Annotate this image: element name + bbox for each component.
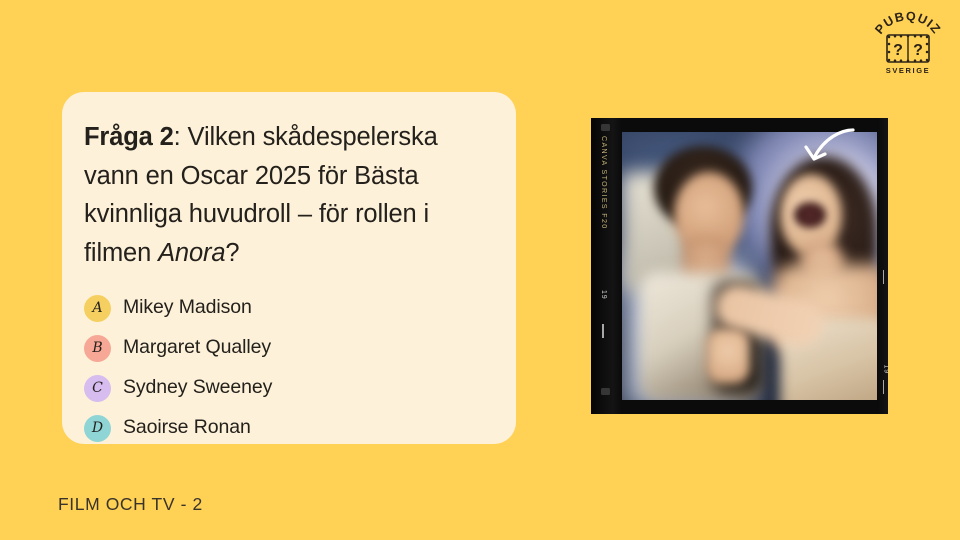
- option-row-d[interactable]: D Saoirse Ronan: [84, 408, 486, 448]
- option-badge-c: C: [84, 375, 111, 402]
- question-text: Fråga 2: Vilken skådespelerska vann en O…: [84, 118, 486, 272]
- option-row-c[interactable]: C Sydney Sweeney: [84, 368, 486, 408]
- film-right-band: 19: [877, 118, 888, 414]
- option-label-a: Mikey Madison: [123, 298, 252, 318]
- question-film-title: Anora: [158, 239, 225, 267]
- question-label: Fråga 2: [84, 123, 174, 151]
- question-mark-left-icon: ?: [893, 42, 903, 59]
- options-list: A Mikey Madison B Margaret Qualley C Syd…: [84, 288, 486, 448]
- option-label-c: Sydney Sweeney: [123, 378, 272, 398]
- sprocket: [601, 124, 610, 131]
- option-badge-a: A: [84, 295, 111, 322]
- question-body-after: ?: [225, 239, 239, 267]
- film-frame-number-left: 19: [600, 290, 607, 299]
- film-tick-right-top: [883, 270, 885, 284]
- photo-film-frame: CANVA STORIES F20 19 19: [591, 118, 888, 414]
- film-stock-edge-text: CANVA STORIES F20: [591, 136, 607, 160]
- option-label-b: Margaret Qualley: [123, 338, 271, 358]
- film-tick-left: [602, 324, 604, 338]
- option-label-d: Saoirse Ronan: [123, 418, 251, 438]
- film-frame-number-right: 19: [882, 365, 888, 374]
- film-left-band: CANVA STORIES F20 19: [591, 118, 622, 414]
- brand-logo: PUBQUIZ ? ? SVERIGE: [866, 8, 950, 80]
- sprocket: [601, 388, 610, 395]
- option-letter-d: D: [92, 421, 103, 435]
- photo-image: [622, 132, 877, 400]
- brand-subtitle: SVERIGE: [886, 66, 931, 75]
- option-letter-a: A: [92, 301, 102, 315]
- option-letter-b: B: [92, 341, 102, 355]
- option-letter-c: C: [92, 381, 103, 395]
- svg-text:PUBQUIZ: PUBQUIZ: [872, 9, 943, 37]
- question-card: Fråga 2: Vilken skådespelerska vann en O…: [62, 92, 516, 444]
- footer-category-label: FILM OCH TV - 2: [58, 494, 203, 515]
- option-row-a[interactable]: A Mikey Madison: [84, 288, 486, 328]
- brand-name-arc: PUBQUIZ: [872, 9, 943, 37]
- question-separator: :: [174, 123, 188, 151]
- question-mark-right-icon: ?: [913, 42, 923, 59]
- film-tick-right-bottom: [883, 380, 885, 394]
- option-badge-b: B: [84, 335, 111, 362]
- option-badge-d: D: [84, 415, 111, 442]
- option-row-b[interactable]: B Margaret Qualley: [84, 328, 486, 368]
